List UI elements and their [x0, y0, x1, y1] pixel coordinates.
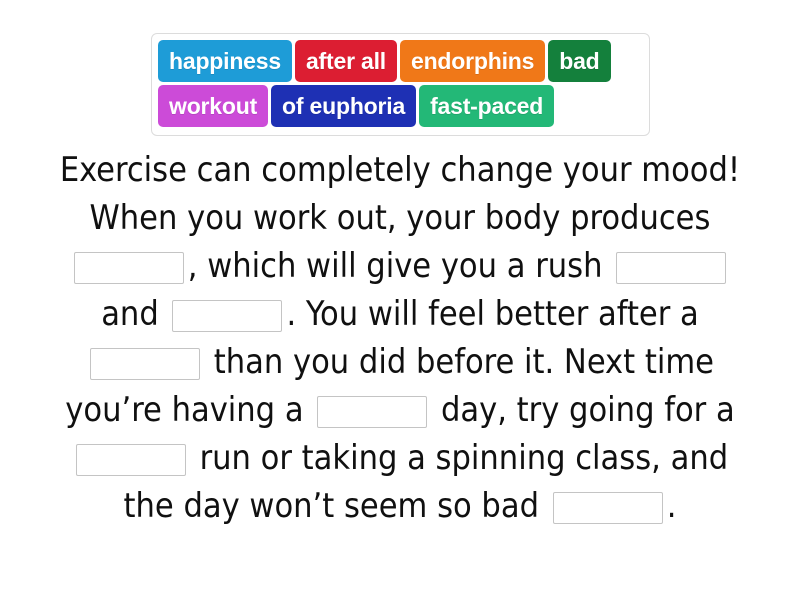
word-bank-row: workoutof euphoriafast-paced: [158, 85, 643, 127]
answer-blank[interactable]: [74, 252, 184, 284]
passage-segment: , which will give you a rush: [188, 246, 612, 286]
passage-segment: .: [667, 486, 677, 526]
word-bank-row: happinessafter allendorphinsbad: [158, 40, 643, 82]
answer-blank[interactable]: [90, 348, 200, 380]
answer-blank[interactable]: [616, 252, 726, 284]
passage-segment: . You will feel better after a: [286, 294, 708, 334]
passage-segment: Exercise can completely change your mood…: [60, 150, 750, 238]
passage-text: Exercise can completely change your mood…: [0, 146, 800, 530]
answer-blank[interactable]: [172, 300, 282, 332]
word-tile[interactable]: endorphins: [400, 40, 545, 82]
passage-segment: day, try going for a: [431, 390, 744, 430]
answer-blank[interactable]: [553, 492, 663, 524]
word-tile[interactable]: of euphoria: [271, 85, 416, 127]
fill-in-the-blank-activity: happinessafter allendorphinsbadworkoutof…: [0, 0, 800, 600]
answer-blank[interactable]: [317, 396, 427, 428]
word-tile[interactable]: happiness: [158, 40, 292, 82]
word-tile[interactable]: fast-paced: [419, 85, 554, 127]
word-bank: happinessafter allendorphinsbadworkoutof…: [151, 33, 650, 136]
word-tile[interactable]: bad: [548, 40, 610, 82]
word-tile[interactable]: workout: [158, 85, 268, 127]
answer-blank[interactable]: [76, 444, 186, 476]
word-tile[interactable]: after all: [295, 40, 397, 82]
